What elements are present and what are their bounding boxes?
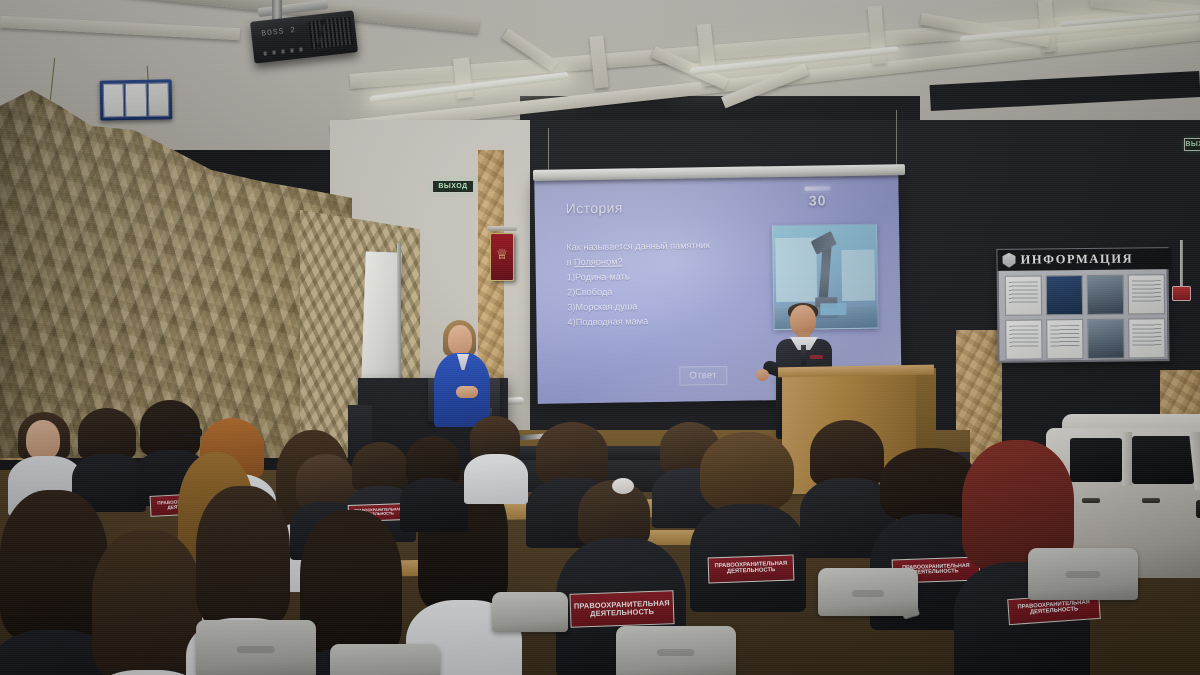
document-text-lines <box>1132 324 1161 347</box>
chair[interactable] <box>330 644 440 675</box>
document-text-lines <box>1009 325 1038 348</box>
fire-alarm-conduit <box>1180 240 1183 288</box>
chair[interactable] <box>196 620 316 675</box>
board-document <box>1046 275 1083 315</box>
projector-label: BOSS 2 <box>261 26 297 39</box>
person-head <box>26 420 60 460</box>
operator-hand <box>456 386 478 398</box>
audience-person <box>810 420 886 530</box>
projector-indicator-leds <box>263 47 308 56</box>
photo-monument-statue <box>819 240 833 304</box>
operator-head <box>448 325 472 355</box>
patch-line-2: ДЕЯТЕЛЬНОСТЬ <box>914 569 959 576</box>
board-document <box>1005 275 1042 315</box>
chair[interactable] <box>818 568 918 616</box>
document-text-lines <box>1009 281 1038 304</box>
slide-timer: 30 <box>794 186 840 209</box>
projector-vents <box>308 17 353 50</box>
shield-emblem-icon <box>1002 253 1015 268</box>
information-board: ИНФОРМАЦИЯ <box>996 247 1169 363</box>
answer-button[interactable]: Ответ <box>679 366 727 386</box>
audience-person <box>406 436 462 508</box>
person-hair <box>406 436 460 484</box>
person-curly-hair <box>700 432 794 512</box>
exit-sign-right: ВЫХОД <box>1184 138 1200 151</box>
presenter-chest-patch <box>810 355 823 359</box>
fire-alarm-button[interactable] <box>1172 286 1191 301</box>
flip-page-display-holder[interactable] <box>100 79 173 120</box>
person-hair <box>352 442 408 492</box>
board-document <box>1128 318 1165 358</box>
flip-page[interactable] <box>125 83 147 117</box>
chair[interactable] <box>616 626 736 675</box>
person-white-shirt <box>464 454 528 504</box>
person-hair <box>536 422 608 484</box>
chair-handle-slot <box>657 649 695 656</box>
emblem-bracket <box>487 226 517 231</box>
audience-person: ПРАВООХРАНИТЕЛЬНАЯ ДЕЯТЕЛЬНОСТЬ <box>962 440 1078 640</box>
person-hair <box>296 454 356 508</box>
chair[interactable] <box>492 592 568 632</box>
document-text-lines <box>1050 325 1079 348</box>
back-patch: ПРАВООХРАНИТЕЛЬНАЯ ДЕЯТЕЛЬНОСТЬ <box>708 555 795 584</box>
information-board-header: ИНФОРМАЦИЯ <box>997 248 1171 271</box>
patch-line-2: ДЕЯТЕЛЬНОСТЬ <box>1030 607 1079 616</box>
person-hair <box>78 408 136 460</box>
slide-option-4: 4)Подводная мама <box>567 312 767 330</box>
slide-question-block: Как называется данный памятник в Полярно… <box>566 237 767 330</box>
flip-page[interactable] <box>103 83 125 117</box>
audience-person <box>470 416 522 482</box>
information-board-documents <box>1005 274 1166 360</box>
audience: ПРАВООХРАНИТЕЛЬНАЯ ДЕЯТЕЛЬНОСТЬ <box>0 400 1200 675</box>
photo-scene: BOSS 2 ВЫХОД ВЫХОД ♕ 30 История <box>0 0 1200 675</box>
chair-handle-slot <box>1065 571 1100 578</box>
presenter-tie <box>801 345 806 365</box>
audience-person: ПРАВООХРАНИТЕЛЬНАЯ ДЕЯТЕЛЬНОСТЬ <box>700 432 796 592</box>
board-document <box>1005 319 1042 359</box>
board-document <box>1046 319 1083 359</box>
back-patch: ПРАВООХРАНИТЕЛЬНАЯ ДЕЯТЕЛЬНОСТЬ <box>569 590 674 628</box>
question-line-1: Как называется данный памятник <box>566 240 710 252</box>
audience-person <box>16 412 74 482</box>
person-long-hair <box>196 486 290 626</box>
chair-handle-slot <box>852 590 884 597</box>
patch-line-2: ДЕЯТЕЛЬНОСТЬ <box>590 608 654 618</box>
presenter-left-hand <box>756 369 769 381</box>
eagle-glyph: ♕ <box>495 247 510 267</box>
chair[interactable] <box>1028 548 1138 600</box>
exit-sign-left: ВЫХОД <box>432 180 474 193</box>
timer-value: 30 <box>795 192 841 209</box>
flip-page[interactable] <box>147 82 169 116</box>
chair-handle-slot <box>237 646 275 653</box>
patch-line-2: ДЕЯТЕЛЬНОСТЬ <box>727 568 775 576</box>
document-text-lines <box>1132 280 1161 303</box>
eyeglasses-icon <box>180 428 202 437</box>
roof-beam <box>0 16 240 41</box>
hair-scrunchie <box>612 478 634 494</box>
board-document <box>1128 274 1165 314</box>
audience-person <box>78 408 138 482</box>
timer-bar <box>804 186 830 190</box>
person-dark-jacket <box>400 478 468 532</box>
information-board-title: ИНФОРМАЦИЯ <box>1020 251 1133 267</box>
screen-hanging-cable <box>896 110 897 168</box>
question-link: Полярном? <box>574 256 623 267</box>
truss-web <box>589 35 608 88</box>
board-document <box>1087 319 1124 359</box>
person-hair <box>810 420 884 486</box>
russian-coat-of-arms-icon: ♕ <box>490 233 514 281</box>
photo-building <box>841 249 875 301</box>
screen-hanging-cable <box>548 128 549 170</box>
slide-category-title: История <box>566 199 623 216</box>
photo-building <box>775 238 817 302</box>
board-document <box>1087 275 1124 315</box>
